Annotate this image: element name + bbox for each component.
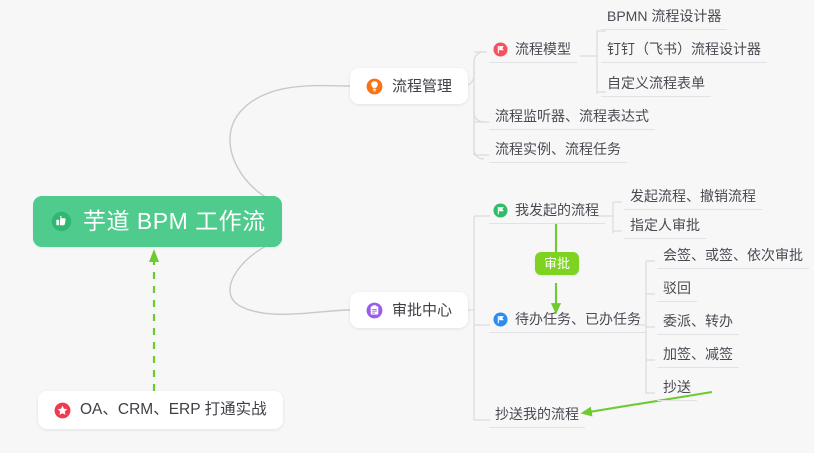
branch-label: 流程管理 xyxy=(392,79,452,94)
star-icon xyxy=(54,402,71,419)
leaf-custom-form[interactable]: 自定义流程表单 xyxy=(601,76,711,97)
branch-node-process-mgmt[interactable]: 流程管理 xyxy=(350,68,468,104)
leaf-label: BPMN 流程设计器 xyxy=(607,9,721,24)
leaf-my-started-processes[interactable]: 我发起的流程 xyxy=(489,203,605,224)
leaf-bpmn-designer[interactable]: BPMN 流程设计器 xyxy=(601,9,727,30)
flow-badge-approval: 审批 xyxy=(535,252,579,275)
floating-card-integration[interactable]: OA、CRM、ERP 打通实战 xyxy=(38,391,283,429)
floating-card-label: OA、CRM、ERP 打通实战 xyxy=(80,402,267,418)
connector-root-to-approval-center xyxy=(230,240,350,314)
flag-icon xyxy=(493,203,508,218)
leaf-label: 流程实例、流程任务 xyxy=(495,142,621,157)
flag-icon xyxy=(493,312,508,327)
leaf-process-listener[interactable]: 流程监听器、流程表达式 xyxy=(489,109,655,130)
connector-root-to-process-mgmt xyxy=(230,86,350,204)
leaf-process-instance[interactable]: 流程实例、流程任务 xyxy=(489,142,627,163)
clipboard-icon xyxy=(366,302,383,319)
leaf-countersign-modes[interactable]: 会签、或签、依次审批 xyxy=(657,248,809,269)
leaf-label: 流程监听器、流程表达式 xyxy=(495,109,649,124)
leaf-label: 自定义流程表单 xyxy=(607,76,705,91)
leaf-todo-and-done-tasks[interactable]: 待办任务、已办任务 xyxy=(489,312,647,333)
leaf-label: 驳回 xyxy=(663,281,691,296)
leaf-start-cancel-process[interactable]: 发起流程、撤销流程 xyxy=(624,189,762,210)
leaf-process-model[interactable]: 流程模型 xyxy=(489,42,577,63)
leaf-label: 发起流程、撤销流程 xyxy=(630,189,756,204)
leaf-label: 会签、或签、依次审批 xyxy=(663,248,803,263)
leaf-reject[interactable]: 驳回 xyxy=(657,281,697,302)
lightbulb-icon xyxy=(366,78,383,95)
leaf-label: 抄送我的流程 xyxy=(495,407,579,422)
leaf-label: 指定人审批 xyxy=(630,218,700,233)
mindmap-canvas: 芋道 BPM 工作流 流程管理 流程模型 BPMN 流程设计器 钉钉（飞书 xyxy=(0,0,814,453)
leaf-label: 我发起的流程 xyxy=(515,203,599,218)
leaf-delegate-transfer[interactable]: 委派、转办 xyxy=(657,314,739,335)
flow-badge-label: 审批 xyxy=(544,256,570,271)
leaf-label: 钉钉（飞书）流程设计器 xyxy=(607,42,761,57)
leaf-label: 待办任务、已办任务 xyxy=(515,312,641,327)
branch-node-approval-center[interactable]: 审批中心 xyxy=(350,292,468,328)
leaf-dingtalk-designer[interactable]: 钉钉（飞书）流程设计器 xyxy=(601,42,767,63)
leaf-assigned-approver[interactable]: 指定人审批 xyxy=(624,218,706,239)
root-label: 芋道 BPM 工作流 xyxy=(83,210,266,233)
branch-label: 审批中心 xyxy=(392,303,452,318)
root-node[interactable]: 芋道 BPM 工作流 xyxy=(33,196,282,247)
leaf-add-remove-signer[interactable]: 加签、减签 xyxy=(657,347,739,368)
leaf-label: 流程模型 xyxy=(515,42,571,57)
leaf-cc-to-me-processes[interactable]: 抄送我的流程 xyxy=(489,407,585,428)
leaf-label: 加签、减签 xyxy=(663,347,733,362)
leaf-carbon-copy[interactable]: 抄送 xyxy=(657,380,697,401)
flag-icon xyxy=(493,42,508,57)
leaf-label: 抄送 xyxy=(663,380,691,395)
thumbs-up-icon xyxy=(51,211,72,232)
leaf-label: 委派、转办 xyxy=(663,314,733,329)
